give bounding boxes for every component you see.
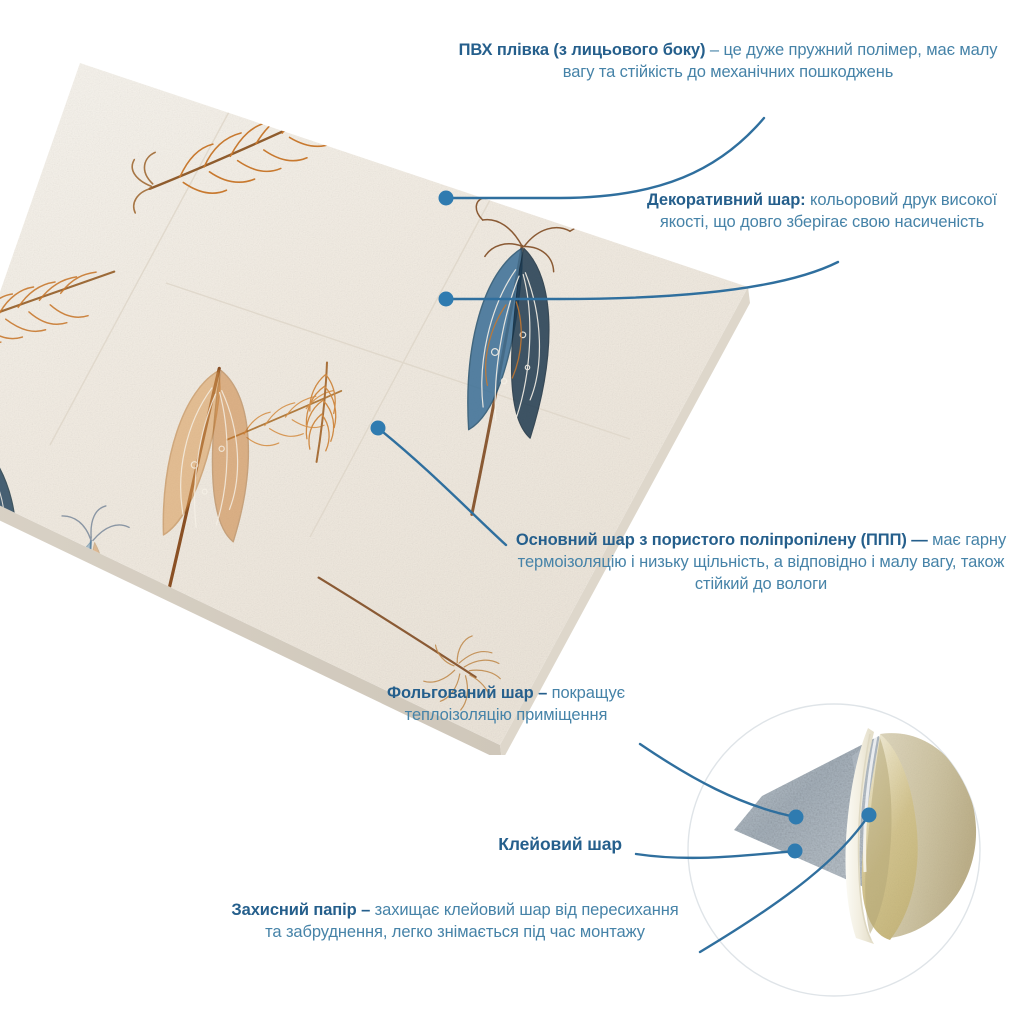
feather-blue-ornate-right xyxy=(444,197,582,522)
callout-pvc-film: ПВХ плівка (з лицьового боку) – це дуже … xyxy=(458,40,998,84)
callout-foil-layer: Фольгований шар – покращує теплоізоляцію… xyxy=(372,683,640,727)
callout-core-layer: Основний шар з пористого поліпропілену (… xyxy=(508,530,1014,595)
feather-orange-top-diagonal xyxy=(118,82,395,213)
feather-blue-ornate-left xyxy=(0,434,24,657)
leader-line-decor xyxy=(446,262,838,299)
callout-decor-heading: Декоративний шар: xyxy=(647,191,806,209)
panel-image xyxy=(0,55,750,755)
callout-dot-pvc xyxy=(439,191,454,206)
callout-pvc-heading: ПВХ плівка (з лицьового боку) xyxy=(459,41,706,59)
leader-line-core xyxy=(378,428,506,545)
feather-blue-small-top xyxy=(24,55,80,112)
feather-orange-ornate-center xyxy=(104,362,255,690)
callout-protective-paper: Захисний папір – захищає клейовий шар ві… xyxy=(222,900,688,944)
callout-glue-heading: Клейовий шар xyxy=(498,834,622,854)
feather-blue-bottom-left xyxy=(31,500,132,747)
callout-decorative-layer: Декоративний шар: кольоровий друк високо… xyxy=(636,190,1008,234)
callout-adhesive-layer: Клейовий шар xyxy=(396,833,622,857)
detail-photo-circle xyxy=(684,700,984,1000)
callout-foil-heading: Фольгований шар – xyxy=(387,684,547,702)
leader-line-pvc xyxy=(446,118,764,198)
feather-orange-tiny-vertical xyxy=(302,361,341,463)
callout-core-heading: Основний шар з пористого поліпропілену (… xyxy=(516,531,928,549)
feather-orange-small-center xyxy=(222,389,350,454)
feather-orange-stub-bottomleft xyxy=(4,647,48,706)
panel-seams xyxy=(50,110,630,537)
infographic-canvas: ПВХ плівка (з лицьового боку) – це дуже … xyxy=(0,0,1024,1024)
callout-dot-core xyxy=(371,421,386,436)
callout-paper-heading: Захисний папір – xyxy=(231,901,370,919)
feather-orange-left-horizontal xyxy=(0,270,122,352)
feather-pattern xyxy=(0,55,582,747)
panel-face xyxy=(0,63,748,745)
callout-dot-decor xyxy=(439,292,454,307)
